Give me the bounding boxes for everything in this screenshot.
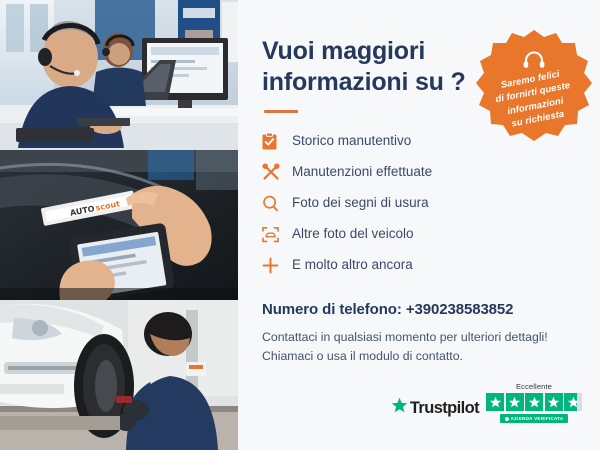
trustpilot-rating: Eccellente	[486, 382, 582, 423]
clipboard-check-icon	[262, 130, 286, 152]
crossed-tools-icon	[262, 161, 286, 183]
contact-text-line2: Chiamaci o usa il modulo di contatto.	[262, 347, 578, 366]
star-rating	[486, 393, 582, 411]
feature-label: Storico manutentivo	[292, 134, 411, 148]
magnifier-icon	[262, 192, 286, 214]
heading-divider	[264, 110, 298, 113]
star-filled	[545, 393, 563, 411]
phone-label: Numero di telefono:	[262, 301, 406, 318]
vehicle-inspection-photo: AUTO scout	[0, 150, 238, 300]
feature-label: Altre foto del veicolo	[292, 227, 414, 241]
trustpilot-star-icon	[391, 397, 408, 419]
page-title: Vuoi maggiori informazioni su ?	[262, 36, 467, 97]
contact-text-line1: Contattaci in qualsiasi momento per ulte…	[262, 328, 578, 347]
page-title-line1: Vuoi maggiori	[262, 36, 467, 67]
star-partial	[564, 393, 582, 411]
phone-number[interactable]: +390238583852	[406, 301, 514, 318]
promo-card: AUTO scout	[0, 0, 600, 450]
feature-label: Foto dei segni di usura	[292, 196, 429, 210]
feature-label: E molto altro ancora	[292, 258, 413, 272]
mechanic-wheel-photo	[0, 300, 238, 450]
photo-column: AUTO scout	[0, 0, 238, 450]
phone-line: Numero di telefono: +390238583852	[262, 301, 578, 318]
feature-item-altre-foto-veicolo[interactable]: Altre foto del veicolo	[262, 220, 578, 248]
verified-badge: AZIENDA VERIFICATA	[500, 414, 569, 423]
page-title-line2: informazioni su ?	[262, 67, 467, 98]
star-filled	[486, 393, 504, 411]
feature-label: Manutenzioni effettuate	[292, 165, 432, 179]
verified-label: AZIENDA VERIFICATA	[511, 416, 564, 421]
trustpilot-wordmark: Trustpilot	[410, 399, 479, 418]
contact-text: Contattaci in qualsiasi momento per ulte…	[262, 328, 578, 365]
feature-item-molto-altro[interactable]: E molto altro ancora	[262, 251, 578, 279]
trustpilot-logo: Trustpilot	[391, 397, 479, 423]
star-filled	[506, 393, 524, 411]
star-filled	[525, 393, 543, 411]
trustpilot-widget[interactable]: Trustpilot Eccellente	[391, 382, 582, 423]
call-center-photo	[0, 0, 238, 150]
content-panel: Vuoi maggiori informazioni su ? Storico …	[238, 0, 600, 450]
phone-block: Numero di telefono: +390238583852 Contat…	[262, 301, 578, 365]
verified-check-icon	[505, 417, 509, 421]
feature-item-manutenzioni-effettuate[interactable]: Manutenzioni effettuate	[262, 158, 578, 186]
plus-icon	[262, 254, 286, 276]
feature-list: Storico manutentivo Manutenzioni effettu…	[262, 127, 578, 279]
feature-item-foto-segni-usura[interactable]: Foto dei segni di usura	[262, 189, 578, 217]
callout-badge: Saremo felici di fornirti queste informa…	[476, 28, 592, 144]
rating-label: Eccellente	[516, 382, 552, 391]
scan-vehicle-icon	[262, 223, 286, 245]
